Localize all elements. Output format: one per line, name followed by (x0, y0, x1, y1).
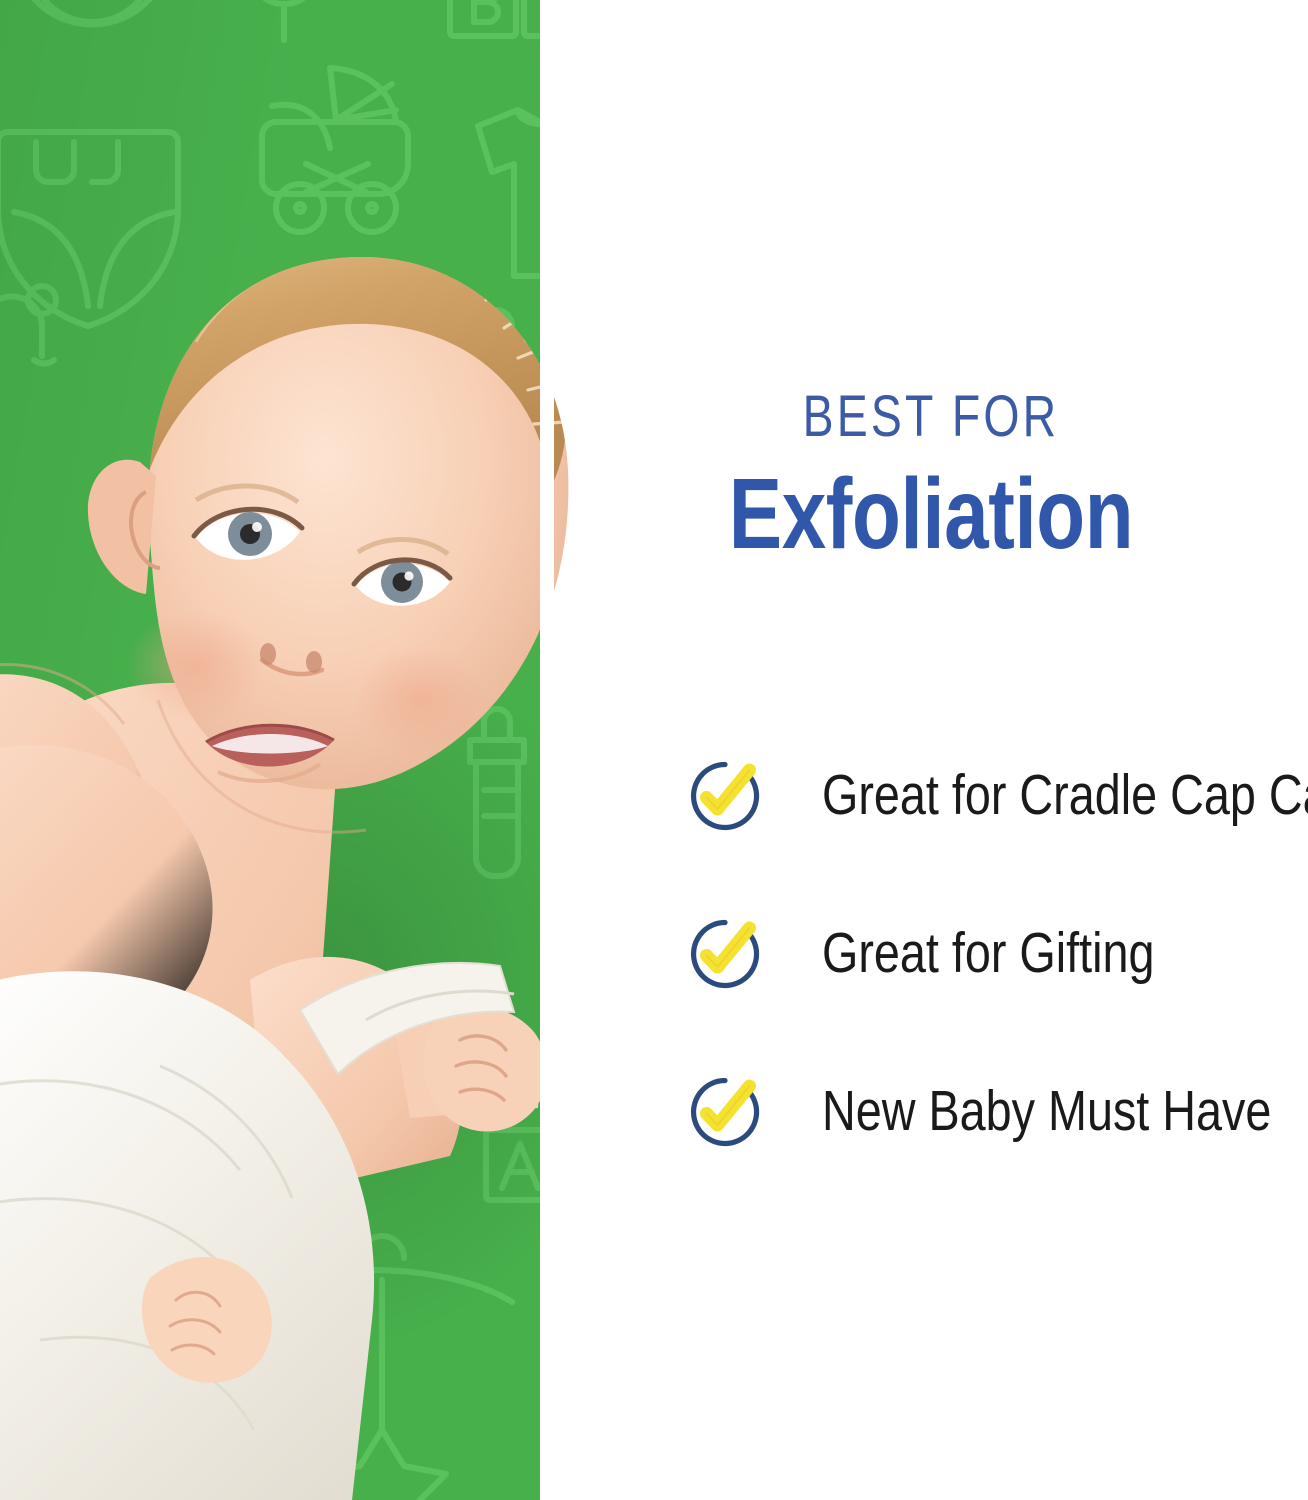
list-item: Great for Gifting (688, 910, 1308, 998)
list-item: New Baby Must Have (688, 1068, 1308, 1156)
check-circle-icon (688, 1075, 762, 1149)
panel-edge-separator (540, 0, 554, 1500)
product-feature-banner: BEST FOR Exfoliation Great for Cradle Ca… (0, 0, 1308, 1500)
baby-cheek-right (354, 646, 486, 754)
heading-group: BEST FOR Exfoliation (554, 388, 1308, 564)
page-title: Exfoliation (629, 464, 1232, 564)
list-item-label: Great for Cradle Cap Care (822, 766, 1308, 826)
check-circle-icon (688, 917, 762, 991)
kicker-text: BEST FOR (629, 388, 1232, 446)
list-item: Great for Cradle Cap Care (688, 752, 1308, 840)
baby-cheek-left (126, 610, 266, 722)
check-circle-icon (688, 759, 762, 833)
content-column: BEST FOR Exfoliation Great for Cradle Ca… (554, 0, 1308, 1500)
list-item-label: Great for Gifting (822, 924, 1155, 984)
benefits-list: Great for Cradle Cap Care Great for Gift… (688, 752, 1308, 1156)
baby-ear (88, 460, 156, 594)
list-item-label: New Baby Must Have (822, 1082, 1271, 1142)
